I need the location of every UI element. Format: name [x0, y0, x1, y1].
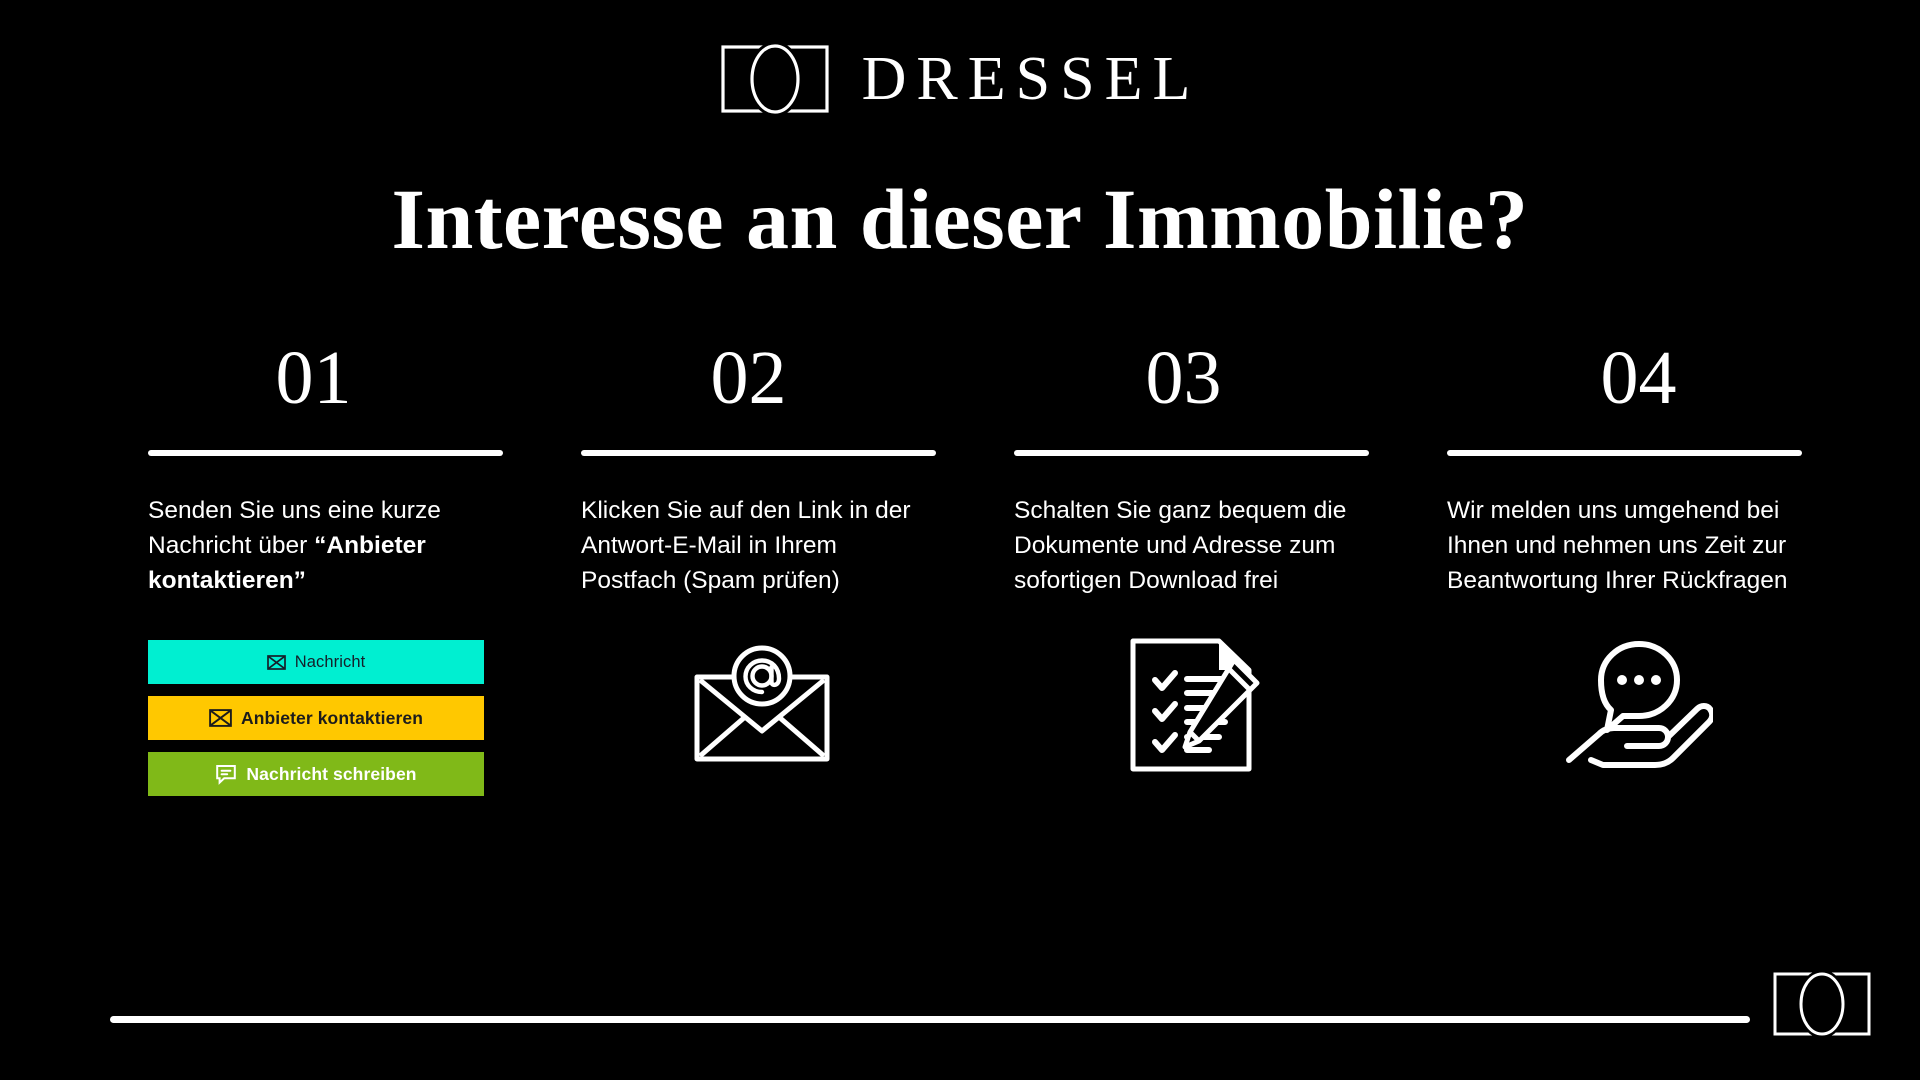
step-description: Klicken Sie auf den Link in der Antwort-… [581, 494, 936, 598]
nachricht-schreiben-button-label: Nachricht schreiben [246, 764, 416, 785]
step-description: Schalten Sie ganz bequem die Dokumente u… [1014, 494, 1369, 598]
checklist-document-pen-icon [1127, 635, 1275, 780]
nachricht-button-label: Nachricht [295, 653, 366, 672]
email-at-envelope-icon [689, 643, 835, 772]
step-description: Senden Sie uns eine kurze Nachricht über… [148, 494, 503, 598]
envelope-icon [267, 655, 286, 670]
step-illustration [1447, 642, 1802, 772]
envelope-icon [209, 709, 232, 727]
step-item-01: 01 Senden Sie uns eine kurze Nachricht ü… [148, 340, 503, 796]
chat-message-icon [215, 764, 237, 785]
step-item-02: 02 Klicken Sie auf den Link in der Antwo… [581, 340, 936, 796]
step-item-03: 03 Schalten Sie ganz bequem die Dokument… [1014, 340, 1369, 796]
anbieter-kontaktieren-button[interactable]: Anbieter kontaktieren [148, 696, 484, 740]
step-number: 04 [1461, 340, 1816, 426]
step-divider [581, 450, 936, 456]
step-divider [148, 450, 503, 456]
step-divider [1014, 450, 1369, 456]
step-number: 01 [136, 340, 491, 426]
dressel-monogram-icon [1772, 968, 1872, 1040]
step-item-04: 04 Wir melden uns umgehend bei Ihnen und… [1447, 340, 1802, 796]
step-description: Wir melden uns umgehend bei Ihnen und ne… [1447, 494, 1802, 598]
anbieter-kontaktieren-button-label: Anbieter kontaktieren [241, 708, 423, 729]
steps-grid: 01 Senden Sie uns eine kurze Nachricht ü… [148, 340, 1802, 796]
nachricht-button[interactable]: Nachricht [148, 640, 484, 684]
brand-name: DRESSEL [856, 48, 1201, 110]
contact-button-stack: Nachricht Anbieter kontaktieren [148, 640, 484, 796]
step-number: 03 [1006, 340, 1361, 426]
footer-divider [110, 1016, 1750, 1023]
step-number: 02 [571, 340, 926, 426]
step-divider [1447, 450, 1802, 456]
chat-bubble-on-hand-icon [1561, 638, 1713, 777]
page-title: Interesse an dieser Immobilie? [0, 172, 1920, 267]
dressel-monogram-icon [720, 40, 830, 118]
step-illustration [581, 642, 936, 772]
nachricht-schreiben-button[interactable]: Nachricht schreiben [148, 752, 484, 796]
step-illustration [1014, 642, 1369, 772]
brand-header: DRESSEL [0, 40, 1920, 118]
